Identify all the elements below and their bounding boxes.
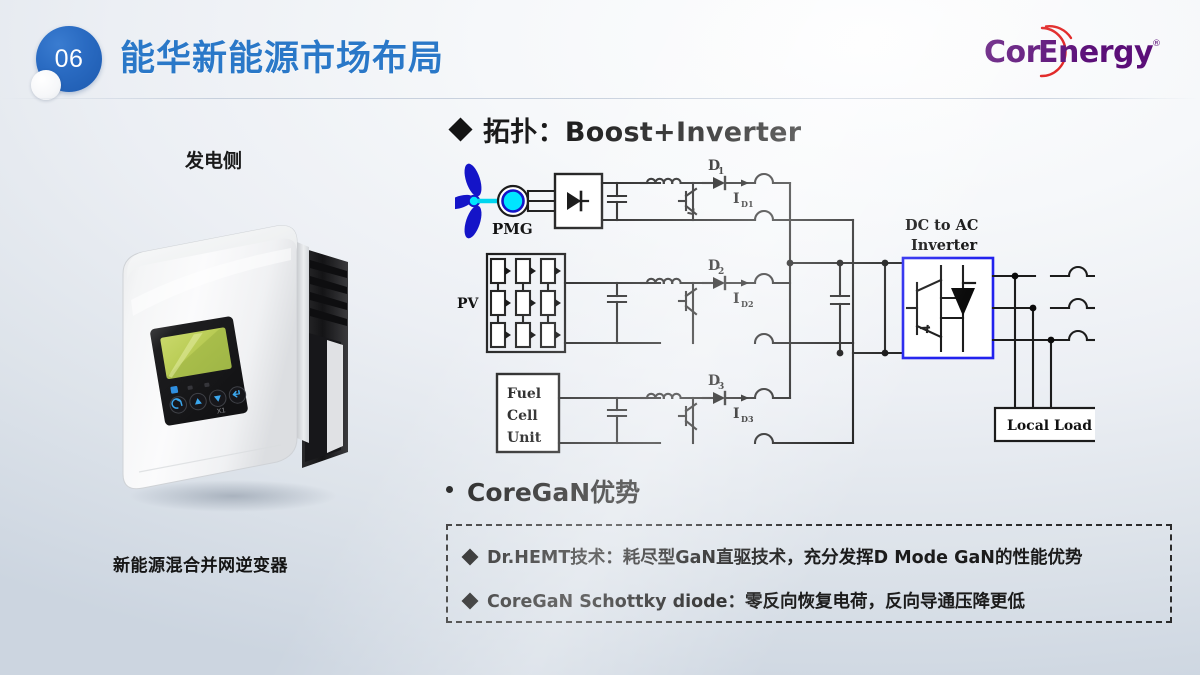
id1-label: I [733,191,740,207]
diamond-bullet-icon-1 [462,548,479,565]
corenergy-logo: Cor E nergy ® [970,22,1178,82]
dc-link-capacitor [831,263,849,353]
wire-hop-e [755,389,773,398]
product-caption: 新能源混合并网逆变器 [113,551,288,576]
wire-hop-f [755,434,773,443]
fuel-cell-line3: Unit [507,430,542,446]
diode-d2-symbol [713,277,725,289]
inverter-label-line1: DC to AC [905,217,978,234]
led-status-icon [187,385,193,390]
fuel-cell-input-capacitor [608,398,626,443]
pv-input-capacitor [608,283,626,343]
inverter-control-panel: X1 [149,316,248,427]
advantages-dashed-box: Dr.HEMT技术：耗尽型GaN直驱技术，充分发挥D Mode GaN的性能优势… [446,524,1172,623]
wire-hop-a [755,174,773,183]
badge-accent-dot [31,70,61,100]
slide-root: 06 能华新能源市场布局 Cor E nergy ® 发电侧 [0,0,1200,675]
d2-subscript: 2 [718,267,724,277]
generation-side-label: 发电侧 [185,146,242,173]
id3-label: I [733,406,740,422]
id2-subscript: D2 [741,299,754,309]
dot-bullet-icon [446,486,453,493]
slide-header: 06 能华新能源市场布局 Cor E nergy ® [0,0,1200,100]
topology-heading: 拓扑：Boost+Inverter [483,110,801,149]
logo-wordmark-nergy: nergy [1058,35,1154,70]
diamond-bullet-icon [448,117,472,141]
logo-wordmark-e: E [1038,35,1059,70]
header-divider [0,98,1200,99]
grid-hop-b [1069,299,1087,308]
wind-input-capacitor [608,183,626,220]
advantage-item-2-text: CoreGaN Schottky diode：零反向恢复电荷，反向导通压降更低 [487,588,1025,613]
circuit-svg: PMG PV Fuel Cell Unit D 1 D 2 D 3 I D1 I… [455,158,1095,463]
advantages-heading-row: CoreGaN优势 [446,473,640,509]
current-arrow-id3 [741,395,749,402]
boost-switch-1 [679,183,696,220]
pmg-generator-icon [498,186,528,216]
led-power-icon [170,386,178,394]
inverter-label-line2: Inverter [911,237,978,254]
current-arrow-id2 [741,280,749,287]
advantage-item-2: CoreGaN Schottky diode：零反向恢复电荷，反向导通压降更低 [464,588,1025,613]
logo-registered-mark: ® [1152,39,1161,49]
d1-subscript: 1 [718,167,724,177]
fuel-cell-line2: Cell [507,408,538,424]
fuel-cell-line1: Fuel [507,386,541,402]
grid-hop-c [1069,331,1087,340]
local-load-label: Local Load [1007,418,1092,434]
pv-array-icon [487,254,565,352]
diamond-bullet-icon-2 [462,592,479,609]
advantage-item-1-text: Dr.HEMT技术：耗尽型GaN直驱技术，充分发挥D Mode GaN的性能优势 [487,544,1082,569]
pmg-label: PMG [492,220,533,238]
hybrid-inverter-product-image: X1 [105,200,365,520]
d3-subscript: 3 [718,382,724,392]
wire-hop-b [755,211,773,220]
inverter-right-side [297,242,309,443]
pv-label: PV [457,296,480,312]
diode-d3-symbol [713,392,725,404]
topology-circuit-diagram: PMG PV Fuel Cell Unit D 1 D 2 D 3 I D1 I… [455,158,1095,463]
boost-switch-3 [679,398,696,443]
logo-wordmark-cor: Cor [984,35,1041,70]
page-title: 能华新能源市场布局 [120,30,444,81]
grid-hop-a [1069,267,1087,276]
id1-subscript: D1 [741,199,754,209]
led-fault-icon [204,383,210,388]
boost-switch-2 [679,283,696,343]
topology-heading-row: 拓扑：Boost+Inverter [452,110,801,149]
wire-hop-c [755,274,773,283]
corenergy-logo-svg: Cor E nergy ® [970,22,1178,82]
id3-subscript: D3 [741,414,754,424]
device-model-label: X1 [216,407,226,415]
diode-d1-symbol [713,177,725,189]
wire-hop-d [755,334,773,343]
current-arrow-id1 [741,180,749,187]
inverter-illustration: X1 [105,200,365,520]
id2-label: I [733,291,740,307]
advantage-item-1: Dr.HEMT技术：耗尽型GaN直驱技术，充分发挥D Mode GaN的性能优势 [464,544,1082,569]
advantages-heading: CoreGaN优势 [467,473,640,509]
